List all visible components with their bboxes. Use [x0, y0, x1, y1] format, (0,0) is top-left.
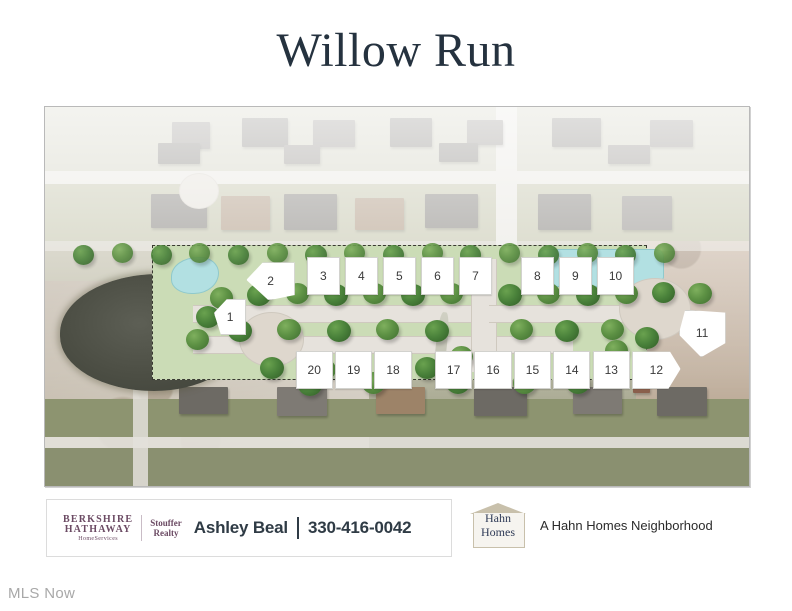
brokerage-line-3: HomeServices	[63, 536, 133, 542]
brokerage-line-2: HATHAWAY	[63, 525, 133, 535]
lot-tag-20[interactable]: 20	[296, 351, 333, 389]
lot-number: 14	[565, 363, 578, 377]
lot-number: 16	[486, 363, 499, 377]
lot-number: 6	[434, 269, 441, 283]
tree	[228, 245, 249, 265]
lot-tag-4[interactable]: 4	[345, 257, 378, 295]
existing-lawn-south-2	[45, 448, 749, 486]
lot-number: 10	[609, 269, 622, 283]
agent-name: Ashley Beal	[194, 518, 288, 538]
tree	[635, 327, 659, 349]
tree	[425, 320, 449, 342]
lot-tag-9[interactable]: 9	[559, 257, 592, 295]
agent-phone[interactable]: 330-416-0042	[308, 518, 411, 538]
hahn-line-1: Hahn	[470, 512, 526, 526]
page-title: Willow Run	[0, 26, 792, 76]
lot-tag-3[interactable]: 3	[307, 257, 340, 295]
lot-tag-18[interactable]: 18	[374, 351, 411, 389]
lot-tag-19[interactable]: 19	[335, 351, 372, 389]
logo-divider	[141, 515, 142, 541]
lot-number: 12	[650, 363, 663, 377]
mls-watermark: MLS Now	[8, 585, 75, 602]
lot-number: 5	[396, 269, 403, 283]
hahn-homes-logo: Hahn Homes	[470, 503, 526, 547]
tree	[186, 329, 209, 350]
lot-number: 4	[358, 269, 365, 283]
lot-number: 19	[347, 363, 360, 377]
tree	[260, 357, 284, 379]
lot-number: 7	[472, 269, 479, 283]
existing-house	[376, 387, 425, 414]
lot-tag-10[interactable]: 10	[597, 257, 634, 295]
lot-number: 18	[386, 363, 399, 377]
lot-tag-17[interactable]: 17	[435, 351, 472, 389]
lot-number: 8	[534, 269, 541, 283]
existing-house	[657, 387, 706, 415]
brokerage-wordmark: BERKSHIRE HATHAWAY HomeServices	[63, 515, 133, 542]
lot-number: 1	[227, 310, 234, 324]
lot-number: 20	[308, 363, 321, 377]
builder-caption: A Hahn Homes Neighborhood	[540, 518, 713, 533]
lot-number: 15	[526, 363, 539, 377]
site-plan-map[interactable]: 1 2 3 4 5 6 7 8 9 10 11 12 13 14 15 16 1…	[44, 106, 750, 487]
builder-block: Hahn Homes A Hahn Homes Neighborhood	[470, 503, 713, 547]
lot-tag-5[interactable]: 5	[383, 257, 416, 295]
franchise-wordmark: Stouffer Realty	[150, 518, 182, 539]
existing-road-vertical-south	[133, 380, 148, 487]
tree	[327, 320, 351, 342]
tree	[267, 243, 288, 263]
tree	[498, 284, 522, 306]
hahn-line-2: Homes	[470, 526, 526, 540]
lot-tag-14[interactable]: 14	[553, 351, 590, 389]
existing-house	[179, 387, 228, 414]
lot-number: 17	[447, 363, 460, 377]
franchise-line-1: Stouffer	[150, 518, 182, 528]
tree	[688, 283, 711, 304]
lot-tag-16[interactable]: 16	[474, 351, 511, 389]
berkshire-hathaway-logo: BERKSHIRE HATHAWAY HomeServices Stouffer…	[63, 515, 182, 542]
tree	[112, 243, 133, 263]
franchise-line-2: Realty	[150, 528, 182, 538]
existing-road-south	[45, 437, 749, 448]
lot-number: 3	[320, 269, 327, 283]
lot-tag-13[interactable]: 13	[593, 351, 630, 389]
lot-number: 13	[605, 363, 618, 377]
tree	[151, 245, 172, 265]
lot-tag-8[interactable]: 8	[521, 257, 554, 295]
lot-number: 9	[572, 269, 579, 283]
lot-number: 11	[696, 326, 708, 340]
lot-number: 2	[267, 274, 274, 288]
aerial-photo-base: 1 2 3 4 5 6 7 8 9 10 11 12 13 14 15 16 1…	[45, 107, 749, 486]
agent-contact-bar: BERKSHIRE HATHAWAY HomeServices Stouffer…	[46, 499, 452, 557]
brokerage-line-1: BERKSHIRE	[63, 515, 133, 525]
lot-tag-7[interactable]: 7	[459, 257, 492, 295]
hahn-wordmark: Hahn Homes	[470, 512, 526, 540]
lot-tag-6[interactable]: 6	[421, 257, 454, 295]
lot-tag-15[interactable]: 15	[514, 351, 551, 389]
agent-divider	[297, 517, 299, 539]
tree	[277, 319, 300, 340]
